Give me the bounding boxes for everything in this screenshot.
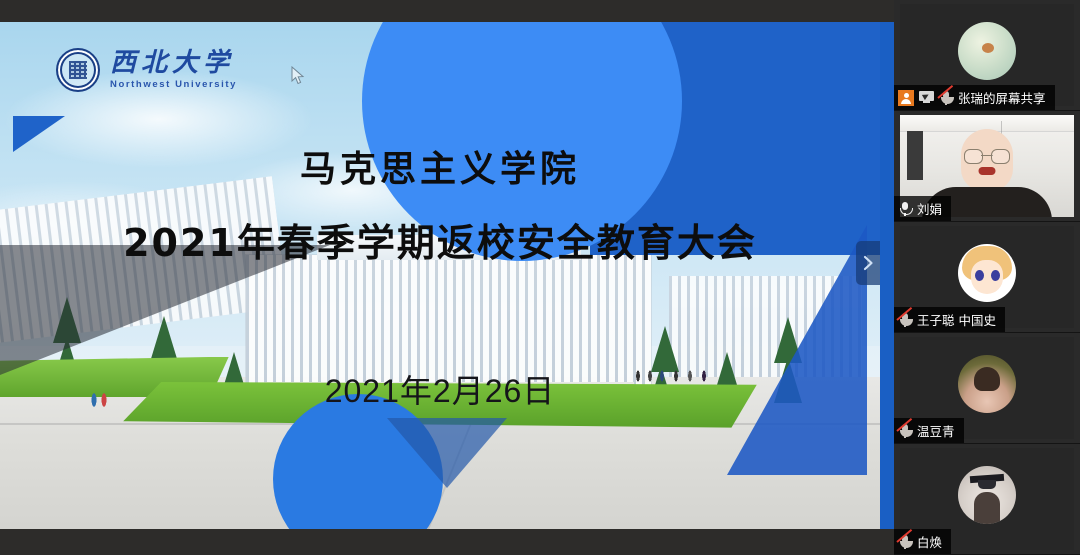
chevron-right-icon [863, 255, 874, 271]
participant-namebar: 刘娟 [894, 196, 951, 221]
participant-namebar: 张瑞的屏幕共享 [894, 85, 1055, 110]
participant-tile[interactable]: 刘娟 [894, 111, 1080, 222]
avatar [958, 244, 1016, 302]
avatar [958, 22, 1016, 80]
avatar [958, 355, 1016, 413]
university-seal-icon [56, 48, 100, 92]
participant-tile[interactable]: 白焕 [894, 444, 1080, 555]
participant-tile[interactable]: 张瑞的屏幕共享 [894, 0, 1080, 111]
participant-namebar: 白焕 [894, 529, 951, 554]
participant-tile[interactable]: 温豆青 [894, 333, 1080, 444]
mic-muted-icon [939, 90, 953, 106]
participant-name: 刘娟 [917, 199, 942, 218]
presentation-slide[interactable]: 西北大学 Northwest University 马克思主义学院 2021年春… [0, 22, 880, 529]
slide-title-primary: 马克思主义学院 [0, 140, 880, 192]
decor-wedge [387, 418, 507, 488]
presenter-badge-icon [898, 90, 914, 106]
participant-name: 白焕 [917, 532, 942, 551]
slide-right-edge-strip [880, 22, 894, 529]
shared-screen-region: 西北大学 Northwest University 马克思主义学院 2021年春… [0, 0, 894, 555]
slide-date: 2021年2月26日 [0, 366, 880, 412]
slide-title-secondary: 2021年春季学期返校安全教育大会 [0, 212, 880, 267]
screen-share-icon [919, 91, 934, 104]
glasses [964, 149, 1010, 163]
share-top-letterbox [0, 0, 894, 22]
avatar [958, 466, 1016, 524]
share-bottom-letterbox [0, 529, 894, 555]
meeting-window: 西北大学 Northwest University 马克思主义学院 2021年春… [0, 0, 1080, 555]
next-slide-button[interactable] [856, 241, 880, 285]
logo-name-en: Northwest University [110, 80, 237, 90]
university-logo: 西北大学 Northwest University [56, 48, 237, 92]
participant-namebar: 王子聪 中国史 [894, 307, 1005, 332]
participant-name: 张瑞的屏幕共享 [958, 88, 1046, 107]
pointer-cursor-icon [291, 66, 305, 91]
mic-muted-icon [898, 312, 912, 328]
participant-namebar: 温豆青 [894, 418, 964, 443]
participant-sidebar: 张瑞的屏幕共享 [894, 0, 1080, 555]
logo-name-cn: 西北大学 [110, 50, 237, 76]
mic-on-icon [898, 201, 912, 217]
participant-tile[interactable]: 王子聪 中国史 [894, 222, 1080, 333]
mic-muted-icon [898, 423, 912, 439]
mic-muted-icon [898, 534, 912, 550]
participant-name: 王子聪 中国史 [917, 310, 996, 329]
participant-name: 温豆青 [917, 421, 955, 440]
